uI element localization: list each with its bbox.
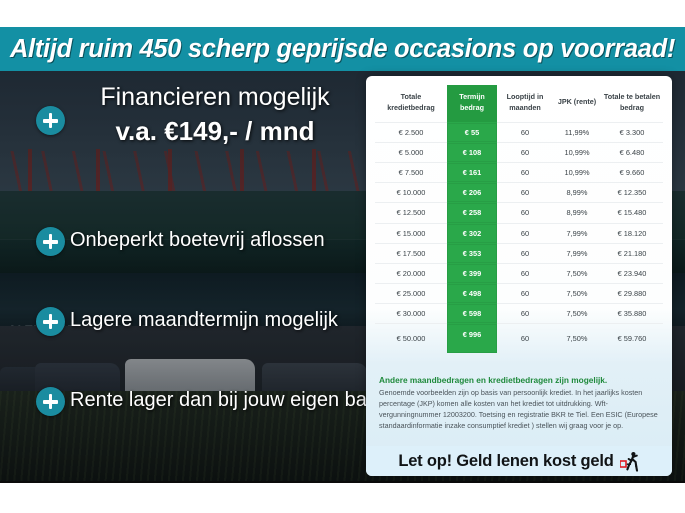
- cell-term-months: 60: [497, 183, 553, 203]
- cell-monthly-amount: € 598: [447, 304, 497, 324]
- cell-total-payable: € 9.660: [601, 162, 663, 182]
- cell-apr: 7,50%: [553, 324, 601, 353]
- plus-icon: [36, 106, 65, 135]
- top-banner: Altijd ruim 450 scherp geprijsde occasio…: [0, 27, 685, 71]
- cell-apr: 8,99%: [553, 203, 601, 223]
- afm-running-man-icon: [620, 451, 640, 472]
- cell-total-credit: € 20.000: [375, 263, 447, 283]
- top-banner-text: Altijd ruim 450 scherp geprijsde occasio…: [0, 27, 685, 71]
- cell-total-credit: € 12.500: [375, 203, 447, 223]
- cell-term-months: 60: [497, 203, 553, 223]
- plus-icon: [36, 387, 65, 416]
- cell-total-credit: € 17.500: [375, 243, 447, 263]
- table-row: € 12.500€ 258608,99%€ 15.480: [375, 203, 663, 223]
- finance-table-body: € 2.500€ 556011,99%€ 3.300€ 5.000€ 10860…: [375, 122, 663, 352]
- promo-bullet: Lagere maandtermijn mogelijk: [70, 309, 338, 332]
- warning-bar: Let op! Geld lenen kost geld: [366, 446, 672, 476]
- promo-copy: Financieren mogelijk v.a. €149,- / mnd O…: [0, 71, 368, 481]
- table-row: € 15.000€ 302607,99%€ 18.120: [375, 223, 663, 243]
- cell-apr: 8,99%: [553, 183, 601, 203]
- disclaimer-title: Andere maandbedragen en kredietbedragen …: [379, 375, 661, 385]
- cell-monthly-amount: € 258: [447, 203, 497, 223]
- cell-total-payable: € 21.180: [601, 243, 663, 263]
- cell-total-credit: € 25.000: [375, 284, 447, 304]
- warning-text: Let op! Geld lenen kost geld: [398, 452, 613, 471]
- bottom-white-strip: [0, 483, 685, 513]
- cell-monthly-amount: € 108: [447, 142, 497, 162]
- table-row: € 7.500€ 1616010,99%€ 9.660: [375, 162, 663, 182]
- cell-total-payable: € 12.350: [601, 183, 663, 203]
- column-header-term-months: Looptijd in maanden: [497, 85, 553, 122]
- column-header-total-payable: Totale te betalen bedrag: [601, 85, 663, 122]
- cell-term-months: 60: [497, 142, 553, 162]
- table-row: € 20.000€ 399607,50%€ 23.940: [375, 263, 663, 283]
- cell-total-credit: € 10.000: [375, 183, 447, 203]
- promo-bullet: Rente lager dan bij jouw eigen bank: [70, 389, 388, 412]
- plus-icon: [36, 307, 65, 336]
- disclaimer-body: Genoemde voorbeelden zijn op basis van p…: [379, 388, 659, 432]
- cell-total-payable: € 6.480: [601, 142, 663, 162]
- promo-headline-line1: Financieren mogelijk: [100, 83, 329, 111]
- cell-term-months: 60: [497, 122, 553, 142]
- cell-term-months: 60: [497, 223, 553, 243]
- cell-term-months: 60: [497, 324, 553, 353]
- cell-total-payable: € 29.880: [601, 284, 663, 304]
- promo-bullet: Onbeperkt boetevrij aflossen: [70, 229, 325, 252]
- cell-monthly-amount: € 996: [447, 324, 497, 353]
- cell-term-months: 60: [497, 263, 553, 283]
- cell-total-payable: € 15.480: [601, 203, 663, 223]
- cell-monthly-amount: € 161: [447, 162, 497, 182]
- table-row: € 10.000€ 206608,99%€ 12.350: [375, 183, 663, 203]
- cell-monthly-amount: € 302: [447, 223, 497, 243]
- cell-total-credit: € 7.500: [375, 162, 447, 182]
- cell-term-months: 60: [497, 284, 553, 304]
- cell-apr: 10,99%: [553, 162, 601, 182]
- cell-term-months: 60: [497, 304, 553, 324]
- table-row: € 50.000€ 996607,50%€ 59.760: [375, 324, 663, 353]
- cell-total-payable: € 3.300: [601, 122, 663, 142]
- table-header-row: Totale kredietbedrag Termijn bedrag Loop…: [375, 85, 663, 122]
- cell-total-credit: € 5.000: [375, 142, 447, 162]
- cell-apr: 7,99%: [553, 243, 601, 263]
- cell-total-credit: € 50.000: [375, 324, 447, 353]
- table-row: € 30.000€ 598607,50%€ 35.880: [375, 304, 663, 324]
- cell-term-months: 60: [497, 162, 553, 182]
- finance-table: Totale kredietbedrag Termijn bedrag Loop…: [375, 85, 663, 353]
- plus-icon: [36, 227, 65, 256]
- cell-monthly-amount: € 399: [447, 263, 497, 283]
- cell-apr: 7,50%: [553, 284, 601, 304]
- table-row: € 25.000€ 498607,50%€ 29.880: [375, 284, 663, 304]
- cell-total-credit: € 15.000: [375, 223, 447, 243]
- cell-apr: 7,50%: [553, 263, 601, 283]
- promo-headline: Financieren mogelijk v.a. €149,- / mnd: [70, 83, 360, 146]
- cell-apr: 10,99%: [553, 142, 601, 162]
- column-header-apr: JPK (rente): [553, 85, 601, 122]
- cell-total-payable: € 35.880: [601, 304, 663, 324]
- cell-total-payable: € 18.120: [601, 223, 663, 243]
- cell-apr: 7,99%: [553, 223, 601, 243]
- cell-monthly-amount: € 353: [447, 243, 497, 263]
- cell-apr: 11,99%: [553, 122, 601, 142]
- cell-apr: 7,50%: [553, 304, 601, 324]
- promo-headline-line2: v.a. €149,- / mnd: [70, 116, 360, 147]
- advertisement-banner: Altijd ruim 450 scherp geprijsde occasio…: [0, 0, 685, 513]
- cell-total-payable: € 23.940: [601, 263, 663, 283]
- finance-table-card: Totale kredietbedrag Termijn bedrag Loop…: [366, 76, 672, 476]
- column-header-total-credit: Totale kredietbedrag: [375, 85, 447, 122]
- cell-term-months: 60: [497, 243, 553, 263]
- table-row: € 2.500€ 556011,99%€ 3.300: [375, 122, 663, 142]
- cell-total-payable: € 59.760: [601, 324, 663, 353]
- cell-total-credit: € 30.000: [375, 304, 447, 324]
- column-header-monthly-amount: Termijn bedrag: [447, 85, 497, 122]
- cell-total-credit: € 2.500: [375, 122, 447, 142]
- cell-monthly-amount: € 55: [447, 122, 497, 142]
- table-row: € 5.000€ 1086010,99%€ 6.480: [375, 142, 663, 162]
- table-row: € 17.500€ 353607,99%€ 21.180: [375, 243, 663, 263]
- cell-monthly-amount: € 206: [447, 183, 497, 203]
- cell-monthly-amount: € 498: [447, 284, 497, 304]
